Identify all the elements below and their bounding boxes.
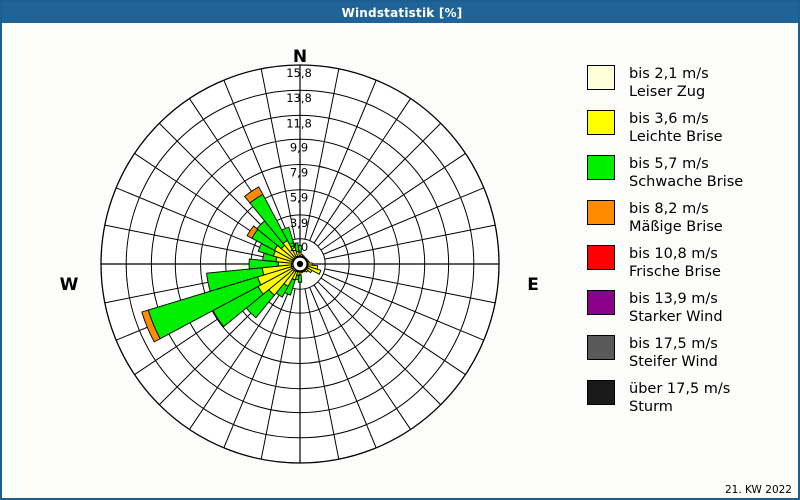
legend-label-group: über 17,5 m/sSturm	[629, 380, 730, 416]
legend-item: bis 5,7 m/sSchwache Brise	[587, 155, 799, 192]
radial-tick-label: 9,9	[290, 140, 308, 154]
legend-speed-range: bis 3,6 m/s	[629, 110, 723, 128]
radial-tick-label: 13,8	[286, 91, 312, 105]
legend-speed-range: bis 13,9 m/s	[629, 290, 723, 308]
legend-speed-range: bis 5,7 m/s	[629, 155, 743, 173]
legend-speed-range: bis 17,5 m/s	[629, 335, 718, 353]
legend-label-group: bis 17,5 m/sSteifer Wind	[629, 335, 718, 371]
legend-item: bis 17,5 m/sSteifer Wind	[587, 335, 799, 372]
legend-label-group: bis 13,9 m/sStarker Wind	[629, 290, 723, 326]
wind-speed-legend: bis 2,1 m/sLeiser Zugbis 3,6 m/sLeichte …	[587, 65, 799, 425]
radial-tick-label: 5,9	[290, 191, 308, 205]
date-stamp: 21. KW 2022	[725, 484, 792, 496]
legend-beaufort-name: Leiser Zug	[629, 83, 709, 101]
legend-item: bis 13,9 m/sStarker Wind	[587, 290, 799, 327]
legend-item: über 17,5 m/sSturm	[587, 380, 799, 417]
legend-beaufort-name: Leichte Brise	[629, 128, 723, 146]
legend-label-group: bis 5,7 m/sSchwache Brise	[629, 155, 743, 191]
chart-plot-area: 2,03,95,97,99,911,813,815,8 N E S W bis …	[4, 23, 800, 500]
legend-item: bis 3,6 m/sLeichte Brise	[587, 110, 799, 147]
legend-item: bis 2,1 m/sLeiser Zug	[587, 65, 799, 102]
legend-label-group: bis 10,8 m/sFrische Brise	[629, 245, 721, 281]
legend-speed-range: über 17,5 m/s	[629, 380, 730, 398]
window-titlebar: Windstatistik [%]	[2, 2, 800, 23]
legend-speed-range: bis 2,1 m/s	[629, 65, 709, 83]
legend-color-swatch	[587, 110, 615, 135]
radial-tick-label: 3,9	[290, 216, 308, 230]
legend-speed-range: bis 8,2 m/s	[629, 200, 723, 218]
legend-beaufort-name: Sturm	[629, 398, 730, 416]
compass-label-north: N	[279, 47, 321, 67]
legend-item: bis 8,2 m/sMäßige Brise	[587, 200, 799, 237]
legend-color-swatch	[587, 65, 615, 90]
legend-label-group: bis 2,1 m/sLeiser Zug	[629, 65, 709, 101]
legend-label-group: bis 3,6 m/sLeichte Brise	[629, 110, 723, 146]
legend-beaufort-name: Mäßige Brise	[629, 218, 723, 236]
radial-tick-label: 15,8	[286, 66, 312, 80]
legend-color-swatch	[587, 290, 615, 315]
legend-beaufort-name: Starker Wind	[629, 308, 723, 326]
legend-beaufort-name: Schwache Brise	[629, 173, 743, 191]
compass-label-east: E	[512, 275, 554, 295]
legend-beaufort-name: Steifer Wind	[629, 353, 718, 371]
legend-label-group: bis 8,2 m/sMäßige Brise	[629, 200, 723, 236]
legend-color-swatch	[587, 335, 615, 360]
legend-item: bis 10,8 m/sFrische Brise	[587, 245, 799, 282]
legend-beaufort-name: Frische Brise	[629, 263, 721, 281]
radial-tick-label: 7,9	[290, 166, 308, 180]
legend-speed-range: bis 10,8 m/s	[629, 245, 721, 263]
compass-label-west: W	[48, 275, 90, 295]
radial-tick-label: 11,8	[286, 116, 312, 130]
legend-color-swatch	[587, 155, 615, 180]
window-title: Windstatistik [%]	[342, 6, 463, 20]
radial-tick-label: 2,0	[290, 240, 308, 254]
windstatistik-window: Windstatistik [%] 2,03,95,97,99,911,813,…	[0, 0, 800, 500]
legend-color-swatch	[587, 380, 615, 405]
legend-color-swatch	[587, 200, 615, 225]
legend-color-swatch	[587, 245, 615, 270]
